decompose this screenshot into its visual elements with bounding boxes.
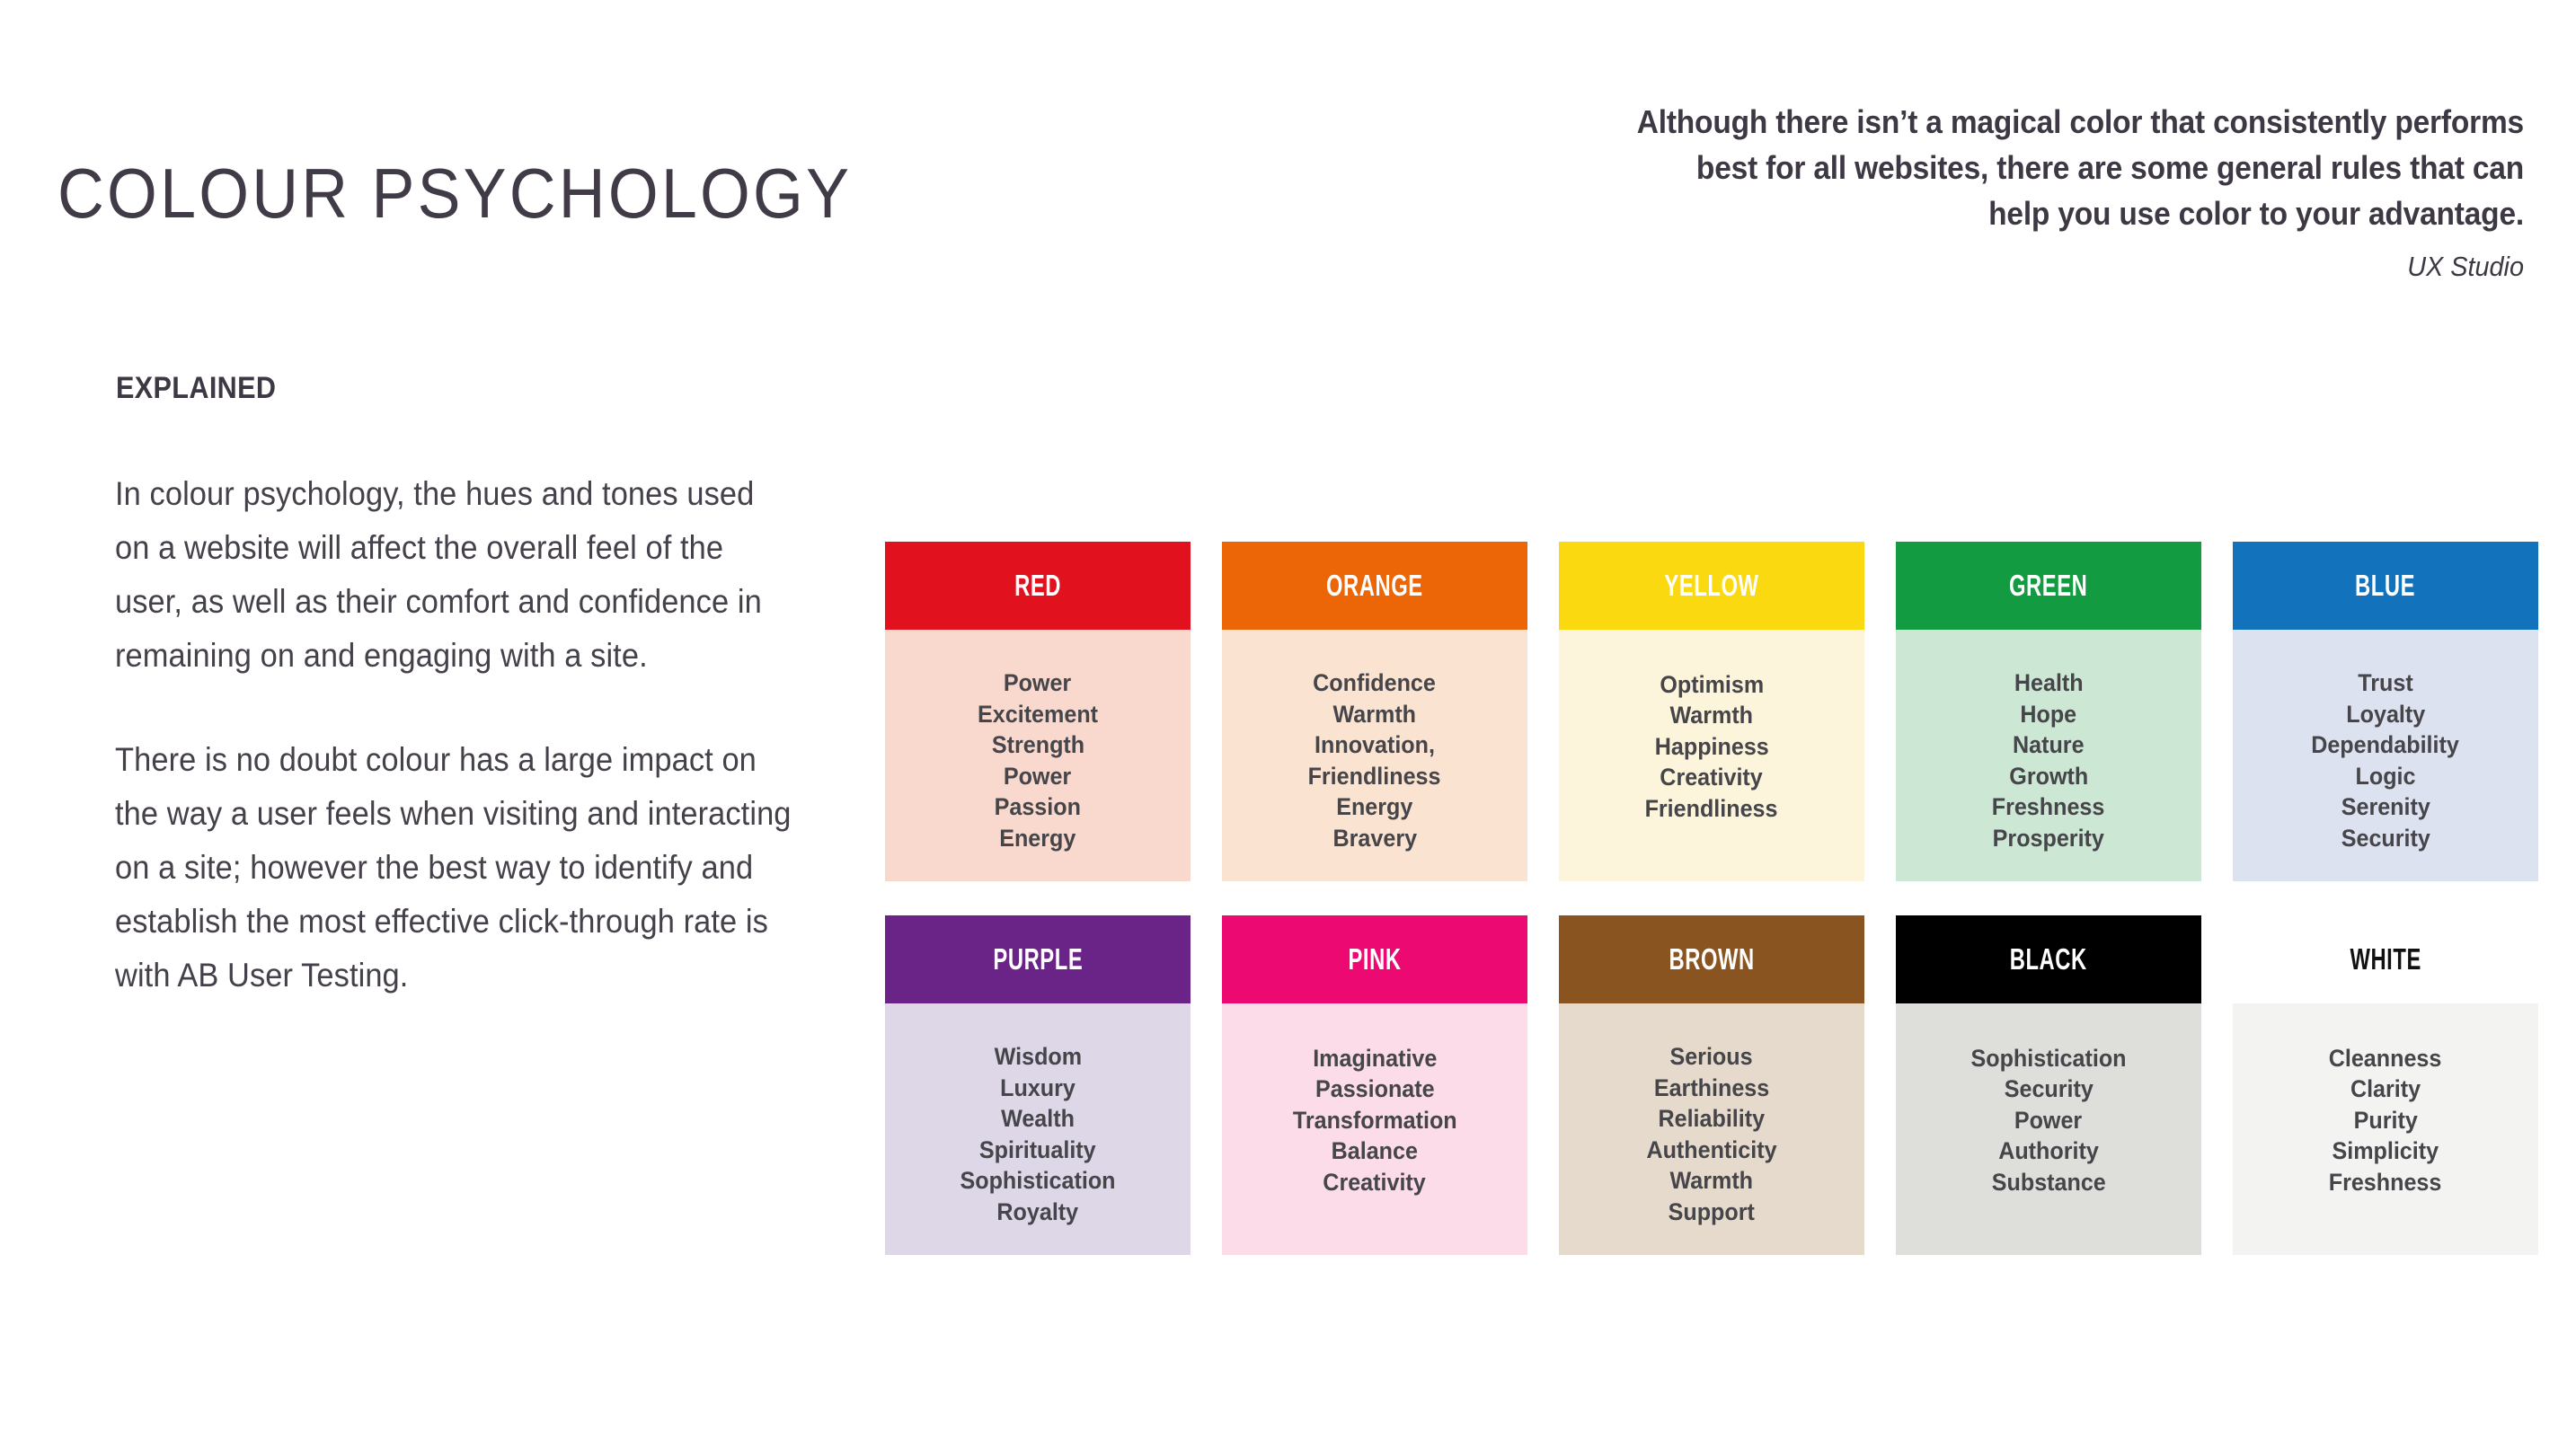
colour-card-brown[interactable]: BROWNSeriousEarthinessReliabilityAuthent… bbox=[1559, 915, 1864, 1255]
trait-item: Freshness bbox=[2329, 1167, 2442, 1198]
trait-item: Luxury bbox=[1000, 1073, 1076, 1104]
trait-item: Power bbox=[1004, 761, 1071, 792]
colour-card-pink[interactable]: PINKImaginativePassionateTransformationB… bbox=[1222, 915, 1527, 1255]
card-header-label-blue: BLUE bbox=[2355, 569, 2415, 603]
trait-item: Reliability bbox=[1659, 1103, 1766, 1135]
colour-card-white[interactable]: WHITECleannessClarityPuritySimplicityFre… bbox=[2233, 915, 2538, 1255]
card-header-black: BLACK bbox=[1896, 915, 2201, 1003]
colour-card-purple[interactable]: PURPLEWisdomLuxuryWealthSpiritualitySoph… bbox=[885, 915, 1191, 1255]
card-header-label-pink: PINK bbox=[1348, 942, 1401, 976]
page-title: COLOUR PSYCHOLOGY bbox=[58, 153, 852, 234]
card-header-label-brown: BROWN bbox=[1669, 942, 1754, 976]
trait-item: Substance bbox=[1991, 1167, 2105, 1198]
trait-item: Sophistication bbox=[1970, 1043, 2126, 1074]
trait-item: Innovation, bbox=[1315, 729, 1435, 761]
colour-card-blue[interactable]: BLUETrustLoyaltyDependabilityLogicSereni… bbox=[2233, 542, 2538, 881]
card-header-label-black: BLACK bbox=[2010, 942, 2087, 976]
trait-item: Security bbox=[2004, 1073, 2093, 1105]
trait-item: Purity bbox=[2353, 1105, 2417, 1136]
trait-item: Support bbox=[1669, 1197, 1755, 1228]
card-header-brown: BROWN bbox=[1559, 915, 1864, 1003]
card-body-green: HealthHopeNatureGrowthFreshnessProsperit… bbox=[1896, 630, 2201, 881]
trait-item: Nature bbox=[2013, 729, 2085, 761]
trait-item: Confidence bbox=[1314, 667, 1437, 699]
card-header-white: WHITE bbox=[2233, 915, 2538, 1003]
trait-item: Passionate bbox=[1315, 1073, 1435, 1105]
colour-card-red[interactable]: REDPowerExcitementStrengthPowerPassionEn… bbox=[885, 542, 1191, 881]
trait-item: Friendliness bbox=[1308, 761, 1441, 792]
card-header-label-orange: ORANGE bbox=[1326, 569, 1423, 603]
card-header-label-yellow: YELLOW bbox=[1664, 569, 1758, 603]
trait-item: Royalty bbox=[997, 1197, 1079, 1228]
trait-item: Hope bbox=[2021, 699, 2077, 730]
trait-item: Happiness bbox=[1654, 731, 1768, 763]
card-header-label-red: RED bbox=[1014, 569, 1061, 603]
trait-item: Cleanness bbox=[2329, 1043, 2442, 1074]
trait-item: Security bbox=[2341, 823, 2430, 854]
trait-item: Balance bbox=[1332, 1135, 1418, 1167]
card-body-black: SophisticationSecurityPowerAuthoritySubs… bbox=[1896, 1003, 2201, 1255]
trait-item: Trust bbox=[2358, 667, 2412, 699]
explained-heading: EXPLAINED bbox=[116, 371, 276, 406]
trait-item: Warmth bbox=[1670, 1165, 1754, 1197]
card-header-orange: ORANGE bbox=[1222, 542, 1527, 630]
trait-item: Energy bbox=[999, 823, 1076, 854]
trait-item: Passion bbox=[995, 791, 1081, 823]
trait-item: Health bbox=[2014, 667, 2084, 699]
trait-item: Logic bbox=[2356, 761, 2416, 792]
body-paragraph-1: In colour psychology, the hues and tones… bbox=[115, 467, 792, 683]
trait-item: Authenticity bbox=[1646, 1135, 1776, 1166]
trait-item: Imaginative bbox=[1313, 1043, 1437, 1074]
trait-item: Serenity bbox=[2341, 791, 2430, 823]
card-header-pink: PINK bbox=[1222, 915, 1527, 1003]
trait-item: Power bbox=[1004, 667, 1071, 699]
trait-item: Freshness bbox=[1992, 791, 2105, 823]
body-copy: In colour psychology, the hues and tones… bbox=[115, 467, 843, 1002]
colour-card-green[interactable]: GREENHealthHopeNatureGrowthFreshnessPros… bbox=[1896, 542, 2201, 881]
quote-block: Although there isn’t a magical color tha… bbox=[1410, 99, 2524, 283]
quote-line-2: best for all websites, there are some ge… bbox=[1488, 145, 2524, 190]
trait-item: Creativity bbox=[1323, 1167, 1426, 1198]
card-header-label-purple: PURPLE bbox=[993, 942, 1083, 976]
quote-line-1: Although there isn’t a magical color tha… bbox=[1488, 99, 2524, 145]
trait-item: Warmth bbox=[1670, 700, 1754, 731]
trait-item: Dependability bbox=[2312, 729, 2460, 761]
card-header-label-white: WHITE bbox=[2350, 942, 2421, 976]
card-body-blue: TrustLoyaltyDependabilityLogicSerenitySe… bbox=[2233, 630, 2538, 881]
trait-item: Optimism bbox=[1660, 669, 1764, 701]
body-paragraph-2: There is no doubt colour has a large imp… bbox=[115, 733, 792, 1003]
card-body-orange: ConfidenceWarmthInnovation,FriendlinessE… bbox=[1222, 630, 1527, 881]
card-body-red: PowerExcitementStrengthPowerPassionEnerg… bbox=[885, 630, 1191, 881]
trait-item: Simplicity bbox=[2333, 1135, 2439, 1167]
trait-item: Wisdom bbox=[994, 1041, 1081, 1073]
trait-item: Growth bbox=[2009, 761, 2088, 792]
trait-item: Prosperity bbox=[1993, 823, 2104, 854]
trait-item: Energy bbox=[1336, 791, 1412, 823]
card-body-pink: ImaginativePassionateTransformationBalan… bbox=[1222, 1003, 1527, 1255]
card-body-purple: WisdomLuxuryWealthSpiritualitySophistica… bbox=[885, 1003, 1191, 1255]
trait-item: Loyalty bbox=[2346, 699, 2425, 730]
quote-attribution: UX Studio bbox=[1488, 251, 2524, 283]
trait-item: Strength bbox=[991, 729, 1084, 761]
trait-item: Authority bbox=[1998, 1135, 2099, 1167]
card-header-green: GREEN bbox=[1896, 542, 2201, 630]
card-header-purple: PURPLE bbox=[885, 915, 1191, 1003]
colour-card-yellow[interactable]: YELLOWOptimismWarmthHappinessCreativityF… bbox=[1559, 542, 1864, 881]
card-header-yellow: YELLOW bbox=[1559, 542, 1864, 630]
colour-card-orange[interactable]: ORANGEConfidenceWarmthInnovation,Friendl… bbox=[1222, 542, 1527, 881]
card-header-red: RED bbox=[885, 542, 1191, 630]
card-body-brown: SeriousEarthinessReliabilityAuthenticity… bbox=[1559, 1003, 1864, 1255]
card-body-yellow: OptimismWarmthHappinessCreativityFriendl… bbox=[1559, 630, 1864, 881]
trait-item: Serious bbox=[1670, 1041, 1753, 1073]
trait-item: Spirituality bbox=[979, 1135, 1096, 1166]
card-header-blue: BLUE bbox=[2233, 542, 2538, 630]
trait-item: Wealth bbox=[1001, 1103, 1075, 1135]
trait-item: Power bbox=[2014, 1105, 2082, 1136]
trait-item: Creativity bbox=[1660, 762, 1763, 793]
card-body-white: CleannessClarityPuritySimplicityFreshnes… bbox=[2233, 1003, 2538, 1255]
trait-item: Friendliness bbox=[1645, 793, 1778, 825]
trait-item: Clarity bbox=[2350, 1073, 2421, 1105]
quote-line-3: help you use color to your advantage. bbox=[1488, 190, 2524, 236]
trait-item: Excitement bbox=[978, 699, 1098, 730]
colour-card-black[interactable]: BLACKSophisticationSecurityPowerAuthorit… bbox=[1896, 915, 2201, 1255]
trait-item: Earthiness bbox=[1654, 1073, 1769, 1104]
trait-item: Bravery bbox=[1332, 823, 1417, 854]
card-header-label-green: GREEN bbox=[2009, 569, 2087, 603]
trait-item: Transformation bbox=[1293, 1105, 1457, 1136]
trait-item: Warmth bbox=[1333, 699, 1417, 730]
colour-card-grid: REDPowerExcitementStrengthPowerPassionEn… bbox=[885, 542, 2538, 1255]
trait-item: Sophistication bbox=[960, 1165, 1115, 1197]
